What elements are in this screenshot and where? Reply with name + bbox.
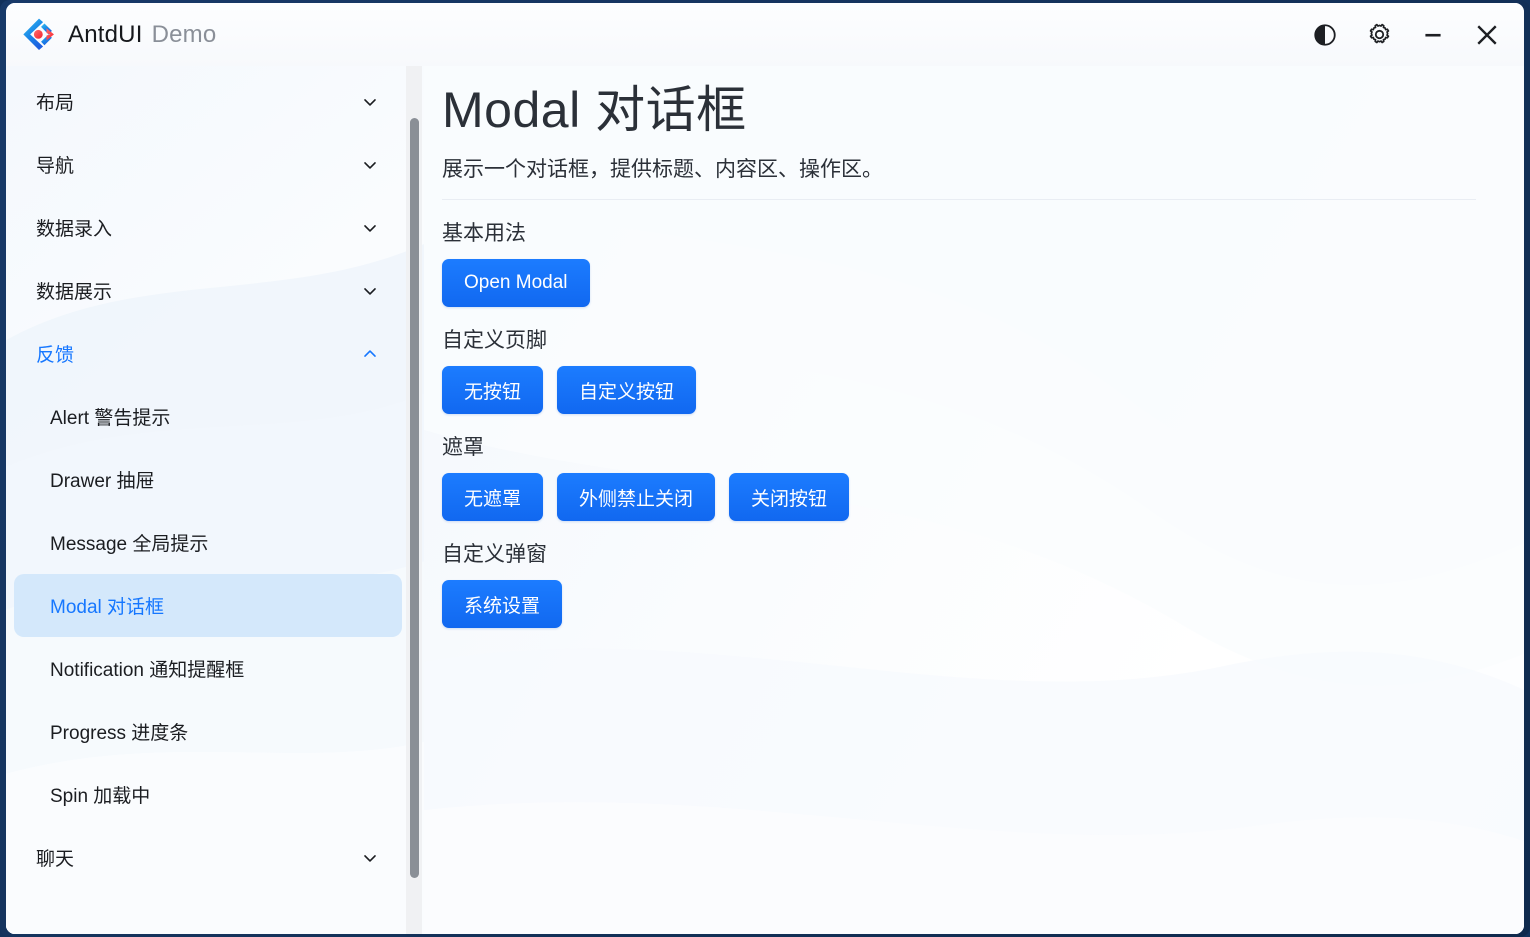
sidebar-item-label: Notification 通知提醒框: [50, 655, 244, 682]
system-settings-button[interactable]: 系统设置: [442, 580, 562, 628]
sidebar-group-label: 反馈: [36, 340, 74, 367]
body-area: 布局 导航 数据录入: [6, 66, 1524, 934]
sidebar-group-label: 聊天: [36, 844, 74, 871]
sidebar-group-shujuluru[interactable]: 数据录入: [14, 196, 402, 259]
sidebar-scrollbar-track[interactable]: [406, 66, 422, 934]
chevron-down-icon: [360, 92, 380, 112]
close-button[interactable]: [1460, 12, 1514, 58]
button-row: 无遮罩 外侧禁止关闭 关闭按钮: [442, 473, 1484, 521]
page-title: Modal 对话框: [442, 80, 1484, 141]
chevron-down-icon: [360, 218, 380, 238]
section-mask: 遮罩 无遮罩 外侧禁止关闭 关闭按钮: [442, 431, 1484, 521]
sidebar-nav-list: 布局 导航 数据录入: [6, 66, 410, 934]
section-title: 自定义弹窗: [442, 538, 1484, 568]
sidebar-item-label: Modal 对话框: [50, 592, 164, 619]
sidebar-item-drawer[interactable]: Drawer 抽屉: [14, 448, 402, 511]
minimize-icon: [1420, 22, 1446, 48]
custom-button-modal-button[interactable]: 自定义按钮: [557, 366, 696, 414]
sidebar-group-label: 导航: [36, 151, 74, 178]
sidebar-item-label: Alert 警告提示: [50, 403, 170, 430]
sidebar-item-message[interactable]: Message 全局提示: [14, 511, 402, 574]
antdui-diamond-logo-icon: [22, 18, 56, 52]
sidebar-item-label: Message 全局提示: [50, 529, 208, 556]
content-panel: Modal 对话框 展示一个对话框，提供标题、内容区、操作区。 基本用法 Ope…: [424, 66, 1524, 934]
window-inner: AntdUI Demo: [6, 3, 1524, 934]
sidebar-item-progress[interactable]: Progress 进度条: [14, 700, 402, 763]
sidebar-item-label: Spin 加载中: [50, 781, 150, 808]
sidebar-group-label: 数据录入: [36, 214, 112, 241]
sidebar-item-spin[interactable]: Spin 加载中: [14, 763, 402, 826]
sidebar-group-fankui[interactable]: 反馈: [14, 322, 402, 385]
section-basic-usage: 基本用法 Open Modal: [442, 217, 1484, 307]
title-bar[interactable]: AntdUI Demo: [6, 3, 1524, 66]
sidebar-scrollbar-thumb[interactable]: [410, 118, 419, 878]
section-title: 遮罩: [442, 431, 1484, 461]
sidebar-group-shujuzhanshi[interactable]: 数据展示: [14, 259, 402, 322]
content-scroll-area: Modal 对话框 展示一个对话框，提供标题、内容区、操作区。 基本用法 Ope…: [424, 66, 1524, 934]
window-controls: [1298, 12, 1524, 58]
section-title: 基本用法: [442, 217, 1484, 247]
section-custom-footer: 自定义页脚 无按钮 自定义按钮: [442, 324, 1484, 414]
title-bar-left: AntdUI Demo: [6, 18, 216, 52]
button-row: 无按钮 自定义按钮: [442, 366, 1484, 414]
close-button-modal-button[interactable]: 关闭按钮: [729, 473, 849, 521]
no-mask-button[interactable]: 无遮罩: [442, 473, 543, 521]
sidebar-group-label: 数据展示: [36, 277, 112, 304]
no-button-modal-button[interactable]: 无按钮: [442, 366, 543, 414]
sidebar-item-modal[interactable]: Modal 对话框: [14, 574, 402, 637]
app-title-brand: AntdUI: [68, 21, 143, 49]
gear-icon: [1366, 21, 1393, 48]
section-custom-modal: 自定义弹窗 系统设置: [442, 538, 1484, 628]
half-circle-contrast-icon: [1312, 22, 1338, 48]
sidebar-group-label: 布局: [36, 88, 74, 115]
chevron-down-icon: [360, 155, 380, 175]
theme-toggle-button[interactable]: [1298, 12, 1352, 58]
sidebar-group-buju[interactable]: 布局: [14, 70, 402, 133]
sidebar-group-daohang[interactable]: 导航: [14, 133, 402, 196]
chevron-down-icon: [360, 848, 380, 868]
sidebar-item-label: Drawer 抽屉: [50, 466, 155, 493]
app-title-suffix: Demo: [152, 21, 217, 49]
sidebar: 布局 导航 数据录入: [6, 66, 424, 934]
title-divider: [442, 199, 1476, 200]
app-window: AntdUI Demo: [0, 0, 1530, 937]
section-title: 自定义页脚: [442, 324, 1484, 354]
sidebar-item-label: Progress 进度条: [50, 718, 188, 745]
minimize-button[interactable]: [1406, 12, 1460, 58]
sidebar-group-liaotian[interactable]: 聊天: [14, 826, 402, 889]
page-subtitle: 展示一个对话框，提供标题、内容区、操作区。: [442, 153, 1484, 183]
settings-button[interactable]: [1352, 12, 1406, 58]
sidebar-item-notification[interactable]: Notification 通知提醒框: [14, 637, 402, 700]
disable-outside-close-button[interactable]: 外侧禁止关闭: [557, 473, 715, 521]
open-modal-button[interactable]: Open Modal: [442, 259, 590, 307]
chevron-down-icon: [360, 281, 380, 301]
app-title: AntdUI Demo: [68, 21, 216, 49]
chevron-up-icon: [360, 344, 380, 364]
sidebar-item-alert[interactable]: Alert 警告提示: [14, 385, 402, 448]
button-row: Open Modal: [442, 259, 1484, 307]
close-icon: [1472, 20, 1502, 50]
button-row: 系统设置: [442, 580, 1484, 628]
